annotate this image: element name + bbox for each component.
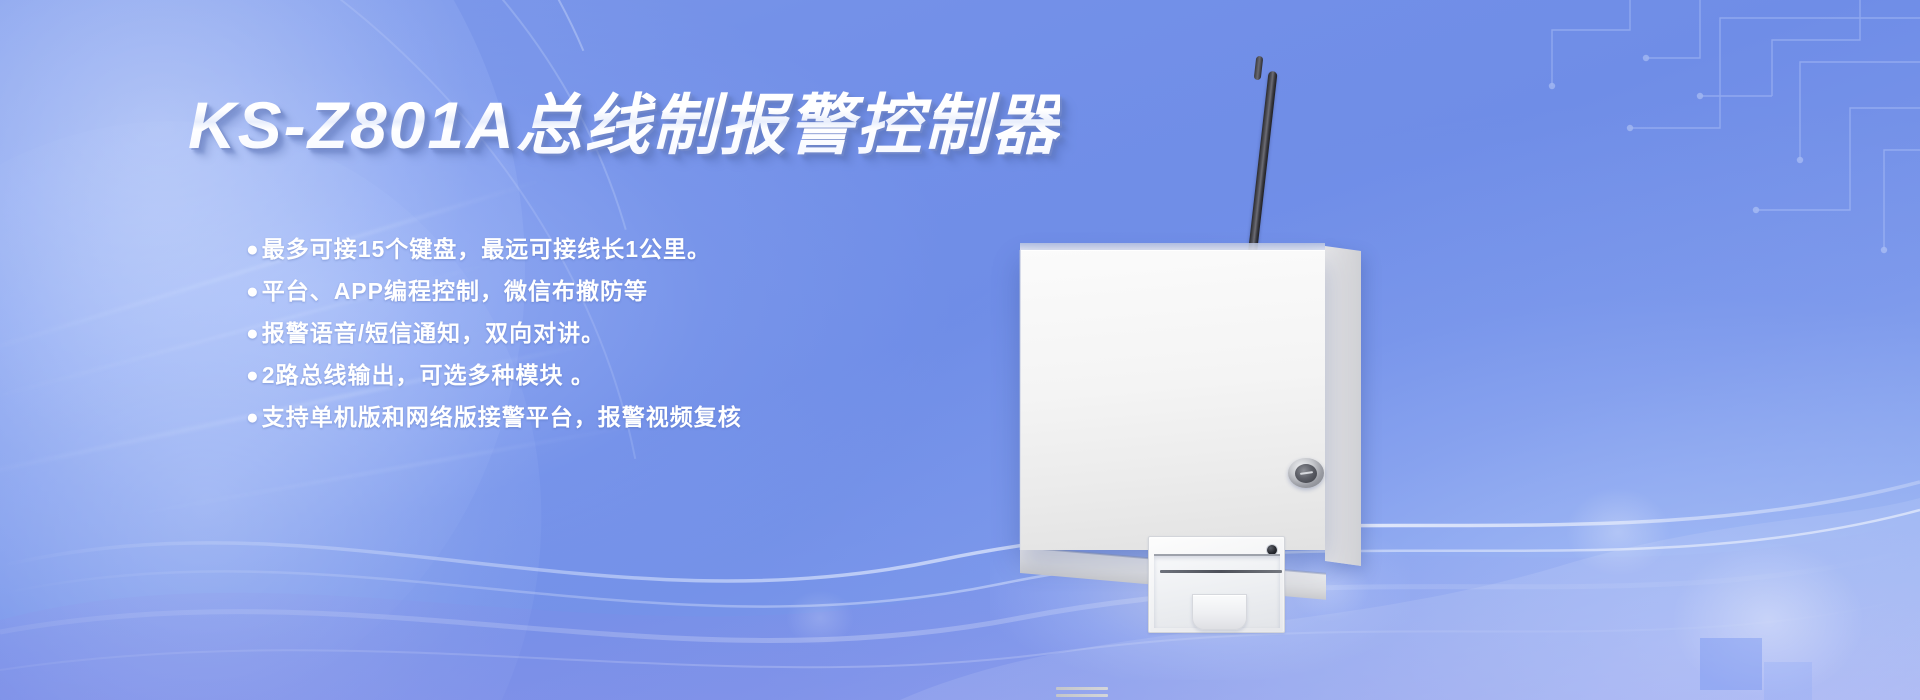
window-slot xyxy=(1160,570,1282,573)
door-handle xyxy=(1192,594,1247,630)
list-item-label: 平台、APP编程控制，微信布撤防等 xyxy=(262,280,648,303)
vent-slot xyxy=(1056,694,1108,697)
bullet-icon: ● xyxy=(246,281,260,302)
list-item: ● 平台、APP编程控制，微信布撤防等 xyxy=(246,280,1076,303)
product-banner: KS-Z801A总线制报警控制器 ● 最多可接15个键盘，最远可接线长1公里。 … xyxy=(0,0,1920,700)
vent-slot xyxy=(1056,687,1108,690)
recessed-window-inner xyxy=(1154,554,1280,628)
ventilation-slots xyxy=(1056,687,1108,700)
antenna-tip xyxy=(1254,56,1264,81)
bullet-icon: ● xyxy=(246,239,260,260)
key-lock-slot xyxy=(1300,471,1313,475)
key-lock-core xyxy=(1295,464,1317,483)
list-item: ● 最多可接15个键盘，最远可接线长1公里。 xyxy=(246,238,1076,261)
bullet-icon: ● xyxy=(246,407,260,428)
list-item: ● 支持单机版和网络版接警平台，报警视频复核 xyxy=(246,406,1076,429)
antenna-icon xyxy=(1246,71,1278,271)
list-item: ● 报警语音/短信通知，双向对讲。 xyxy=(246,322,1076,345)
recessed-window-frame xyxy=(1148,536,1285,633)
page-title: KS-Z801A总线制报警控制器 xyxy=(188,72,1060,168)
list-item-label: 支持单机版和网络版接警平台，报警视频复核 xyxy=(262,406,742,429)
list-item: ● 2路总线输出，可选多种模块 。 xyxy=(246,364,1076,387)
key-lock-icon xyxy=(1288,458,1324,488)
list-item-label: 2路总线输出，可选多种模块 。 xyxy=(262,364,595,387)
list-item-label: 最多可接15个键盘，最远可接线长1公里。 xyxy=(262,238,711,261)
bullet-icon: ● xyxy=(246,365,260,386)
enclosure-side-face xyxy=(1325,246,1361,566)
feature-list: ● 最多可接15个键盘，最远可接线长1公里。 ● 平台、APP编程控制，微信布撤… xyxy=(246,238,1076,448)
enclosure-front-face xyxy=(1020,250,1325,550)
bullet-icon: ● xyxy=(246,323,260,344)
list-item-label: 报警语音/短信通知，双向对讲。 xyxy=(262,322,605,345)
enclosure-left-edge xyxy=(1019,250,1021,550)
product-image-alarm-control-panel xyxy=(1010,60,1530,630)
